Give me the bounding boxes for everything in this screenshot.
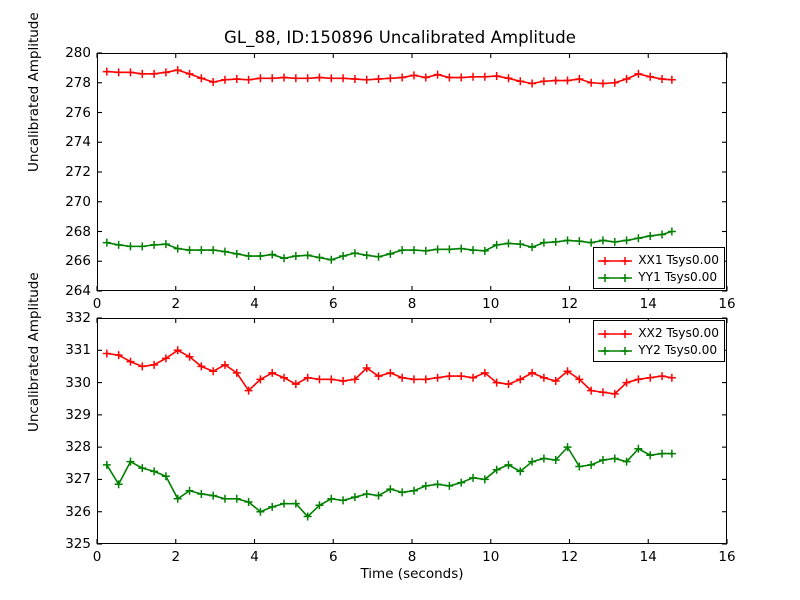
- ytick-label: 266: [0, 253, 91, 269]
- xtick-label: 10: [482, 296, 499, 312]
- bottom-panel: XX2 Tsys0.00YY2 Tsys0.00: [97, 318, 727, 544]
- ytick-label: 264: [0, 283, 91, 299]
- chart-title: GL_88, ID:150896 Uncalibrated Amplitude: [0, 28, 800, 47]
- legend-swatch-icon: [598, 253, 632, 267]
- xtick-label: 0: [93, 296, 102, 312]
- xtick-label: 4: [250, 296, 259, 312]
- xtick-label: 4: [250, 549, 259, 565]
- legend-entry: YY1 Tsys0.00: [598, 268, 719, 285]
- series-xx1: [103, 66, 676, 87]
- xtick-label: 2: [171, 549, 180, 565]
- ytick-label: 326: [0, 504, 91, 520]
- xtick-label: 0: [93, 549, 102, 565]
- ytick-label: 270: [0, 194, 91, 210]
- legend-entry: XX1 Tsys0.00: [598, 251, 719, 268]
- xtick-label: 8: [408, 549, 417, 565]
- figure-canvas: GL_88, ID:150896 Uncalibrated Amplitude …: [0, 0, 800, 600]
- legend-label: XX2 Tsys0.00: [638, 326, 719, 340]
- legend-label: YY2 Tsys0.00: [638, 343, 717, 357]
- ytick-label: 276: [0, 105, 91, 121]
- xtick-label: 2: [171, 296, 180, 312]
- top-panel-legend[interactable]: XX1 Tsys0.00YY1 Tsys0.00: [593, 247, 725, 289]
- top-panel-ylabel: Uncalibrated Amplitude: [26, 12, 42, 172]
- legend-entry: YY2 Tsys0.00: [598, 341, 719, 358]
- xtick-label: 16: [718, 549, 735, 565]
- series-yy2: [103, 443, 676, 520]
- xtick-label: 6: [329, 296, 338, 312]
- ytick-label: 272: [0, 164, 91, 180]
- ytick-label: 278: [0, 75, 91, 91]
- xtick-label: 12: [561, 296, 578, 312]
- ytick-label: 328: [0, 439, 91, 455]
- legend-swatch-icon: [598, 270, 632, 284]
- legend-swatch-icon: [598, 326, 632, 340]
- ytick-label: 327: [0, 471, 91, 487]
- ytick-label: 280: [0, 45, 91, 61]
- ytick-label: 325: [0, 536, 91, 552]
- xtick-label: 6: [329, 549, 338, 565]
- series-xx2: [103, 346, 676, 398]
- series-yy1: [103, 228, 676, 264]
- ytick-label: 329: [0, 407, 91, 423]
- ytick-label: 331: [0, 342, 91, 358]
- xtick-label: 8: [408, 296, 417, 312]
- legend-label: YY1 Tsys0.00: [638, 270, 717, 284]
- xtick-label: 14: [640, 296, 657, 312]
- legend-entry: XX2 Tsys0.00: [598, 324, 719, 341]
- bottom-panel-legend[interactable]: XX2 Tsys0.00YY2 Tsys0.00: [593, 320, 725, 362]
- legend-swatch-icon: [598, 343, 632, 357]
- bottom-panel-ylabel: Uncalibrated Amplitude: [26, 272, 42, 432]
- xtick-label: 12: [561, 549, 578, 565]
- ytick-label: 330: [0, 375, 91, 391]
- top-panel: XX1 Tsys0.00YY1 Tsys0.00: [97, 53, 727, 291]
- bottom-panel-xlabel: Time (seconds): [97, 566, 727, 582]
- xtick-label: 16: [718, 296, 735, 312]
- ytick-label: 332: [0, 310, 91, 326]
- legend-label: XX1 Tsys0.00: [638, 253, 719, 267]
- xtick-label: 10: [482, 549, 499, 565]
- ytick-label: 268: [0, 224, 91, 240]
- xtick-label: 14: [640, 549, 657, 565]
- ytick-label: 274: [0, 134, 91, 150]
